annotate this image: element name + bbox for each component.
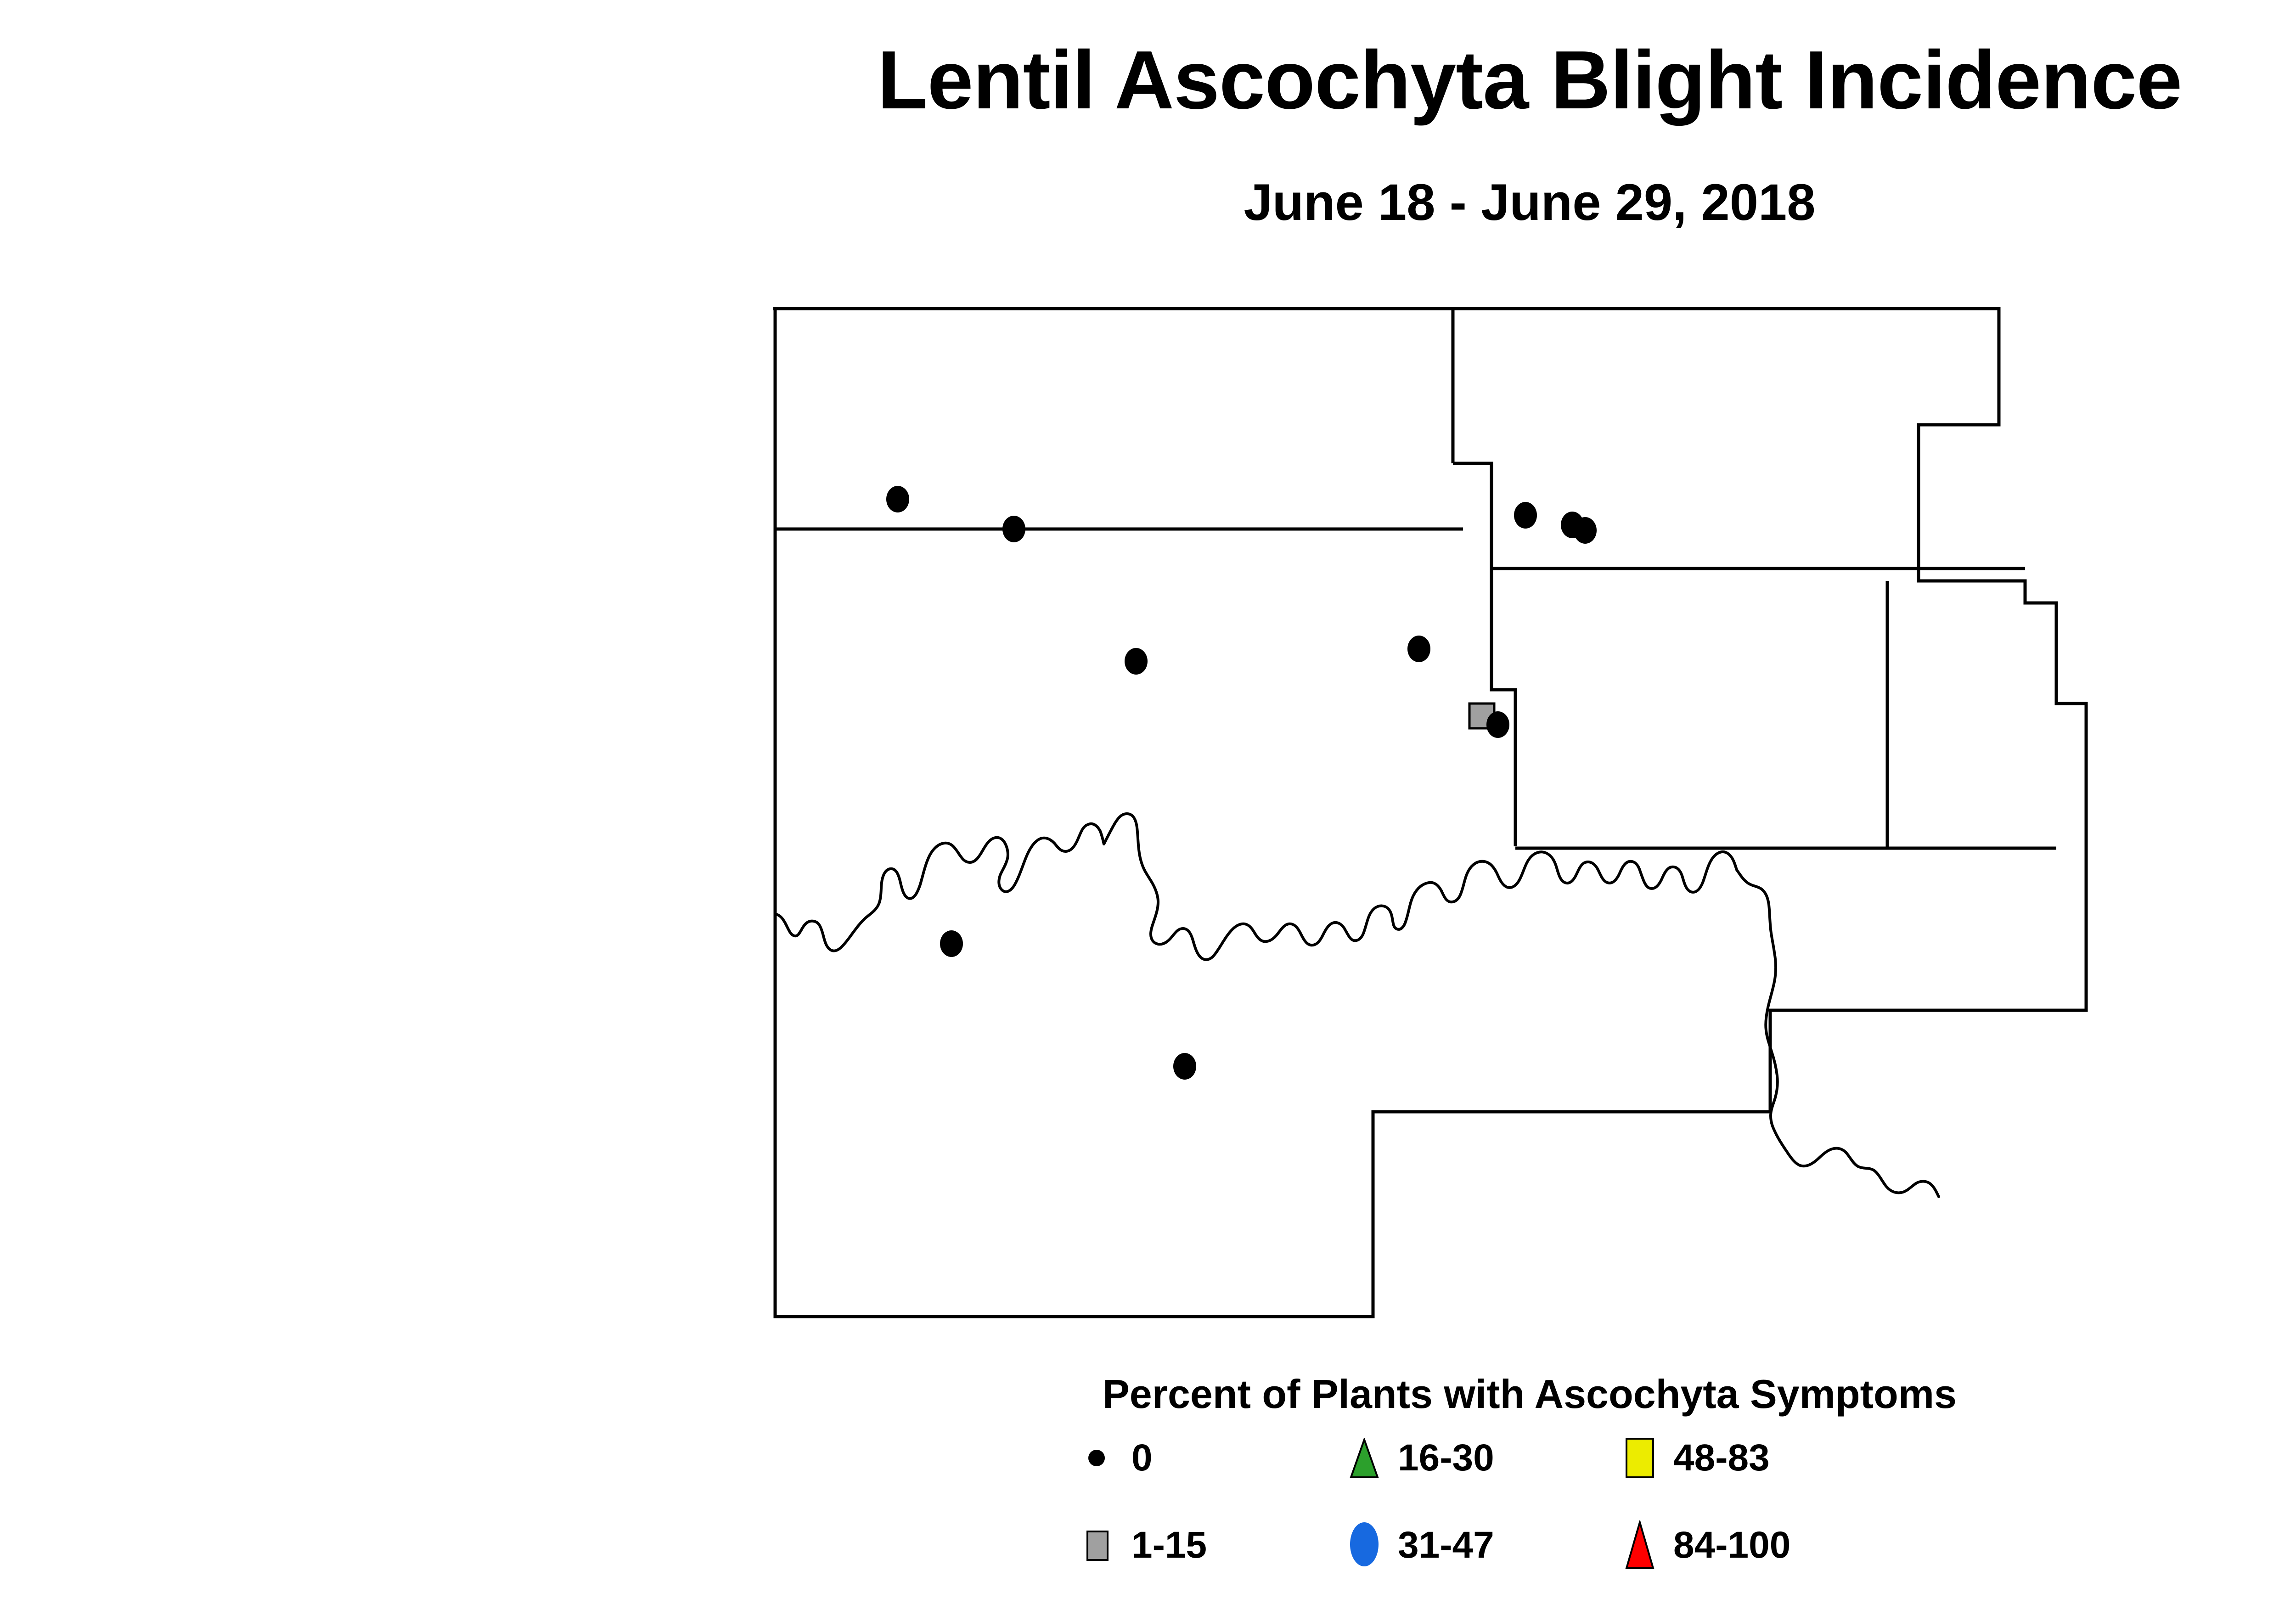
map-page: Lentil Ascochyta Blight Incidence June 1…: [0, 0, 2296, 1610]
legend-item-84-100[interactable]: 84-100: [1612, 1518, 1790, 1573]
data-point-marker-square: [1469, 704, 1494, 728]
region-outline: [773, 309, 2086, 1317]
legend-label: 0: [1131, 1436, 1153, 1480]
legend-label: 1-15: [1131, 1524, 1207, 1567]
data-point-marker: [1002, 516, 1025, 542]
square-icon: [1612, 1430, 1667, 1486]
square-icon: [1070, 1518, 1125, 1573]
data-point-marker: [1574, 517, 1597, 544]
legend-item-31-47[interactable]: 31-47: [1336, 1518, 1494, 1573]
county-line-central-vert: [1491, 569, 1515, 846]
dot-icon: [1070, 1430, 1125, 1486]
county-line-ne-step: [1453, 463, 1491, 569]
legend-label: 48-83: [1673, 1436, 1770, 1480]
data-point-marker: [1486, 711, 1509, 738]
circle-icon: [1336, 1518, 1391, 1573]
triangle-icon: [1336, 1430, 1391, 1486]
data-point-marker: [1561, 512, 1584, 538]
legend: 0 1-15 16-30 31-47: [1070, 1430, 1988, 1582]
legend-item-48-83[interactable]: 48-83: [1612, 1430, 1770, 1486]
legend-item-1-15[interactable]: 1-15: [1070, 1518, 1207, 1573]
page-title: Lentil Ascochyta Blight Incidence: [0, 37, 2296, 124]
map-boundaries: [773, 309, 2086, 1317]
legend-label: 84-100: [1673, 1524, 1790, 1567]
river-path-east: [1737, 870, 1939, 1197]
data-point-marker: [940, 930, 963, 957]
legend-item-0[interactable]: 0: [1070, 1430, 1153, 1486]
legend-label: 16-30: [1398, 1436, 1494, 1480]
triangle-icon: [1612, 1518, 1667, 1573]
data-point-marker: [1125, 648, 1148, 675]
legend-label: 31-47: [1398, 1524, 1494, 1567]
legend-title: Percent of Plants with Ascochyta Symptom…: [0, 1371, 2296, 1418]
page-subtitle: June 18 - June 29, 2018: [0, 175, 2296, 230]
map-canvas: [0, 0, 2296, 1610]
data-point-marker: [886, 486, 909, 512]
data-points: [886, 486, 1597, 1080]
river-boundary: [775, 814, 1939, 1197]
data-point-marker: [1407, 636, 1430, 662]
data-point-marker: [1173, 1053, 1196, 1080]
legend-item-16-30[interactable]: 16-30: [1336, 1430, 1494, 1486]
river-path: [775, 814, 1737, 960]
data-point-marker: [1514, 502, 1537, 529]
